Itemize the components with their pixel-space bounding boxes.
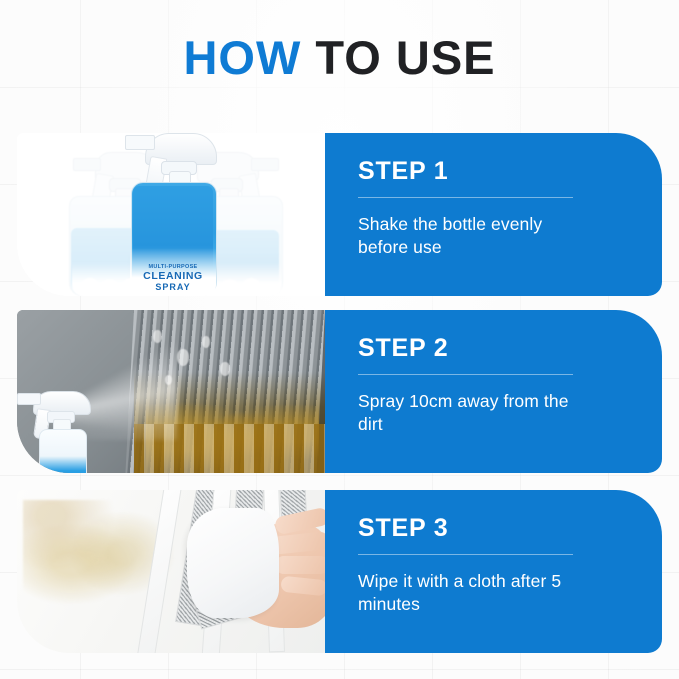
step-2-divider	[358, 374, 573, 375]
step-3-description: Wipe it with a cloth after 5 minutes	[358, 570, 588, 616]
step-1-photo: MULTI-PURPOSE CLEANING SPRAY	[17, 133, 325, 296]
step-3-card: STEP 3 Wipe it with a cloth after 5 minu…	[325, 490, 662, 653]
step-1-title: STEP 1	[358, 156, 636, 186]
step-2-title: STEP 2	[358, 333, 636, 363]
bottle-label-line3: SPRAY	[127, 282, 219, 292]
page-header: HOW TO USE	[0, 31, 679, 85]
cleaning-cloth	[187, 508, 279, 618]
step-3-photo	[17, 490, 325, 653]
greasy-hood-scene	[17, 310, 325, 473]
step-1-card: STEP 1 Shake the bottle evenly before us…	[325, 133, 662, 296]
step-3-divider	[358, 554, 573, 555]
step-row-1: MULTI-PURPOSE CLEANING SPRAY STEP 1 Shak…	[17, 133, 662, 296]
step-2-card: STEP 2 Spray 10cm away from the dirt	[325, 310, 662, 473]
spray-bottle-scene: MULTI-PURPOSE CLEANING SPRAY	[17, 133, 325, 296]
droplet	[165, 375, 172, 385]
step-1-divider	[358, 197, 573, 198]
step-row-3: STEP 3 Wipe it with a cloth after 5 minu…	[17, 490, 662, 653]
droplet	[153, 330, 162, 343]
title-rest-words: TO USE	[315, 31, 495, 84]
finger	[275, 556, 325, 574]
wiping-hood-scene	[17, 490, 325, 653]
page-title: HOW TO USE	[0, 31, 679, 85]
step-3-title: STEP 3	[358, 513, 636, 543]
step-2-description: Spray 10cm away from the dirt	[358, 390, 588, 436]
infographic-page: HOW TO USE	[0, 0, 679, 679]
bottle-label: MULTI-PURPOSE CLEANING SPRAY	[127, 264, 219, 292]
bottle-label-line2: CLEANING	[127, 271, 219, 282]
step-row-2: STEP 2 Spray 10cm away from the dirt	[17, 310, 662, 473]
title-accent-word: HOW	[183, 31, 301, 84]
spray-bottle-main: MULTI-PURPOSE CLEANING SPRAY	[127, 133, 219, 296]
spray-bottle-in-use	[21, 391, 95, 473]
droplet	[202, 336, 210, 348]
step-1-description: Shake the bottle evenly before use	[358, 213, 588, 259]
step-2-photo	[17, 310, 325, 473]
